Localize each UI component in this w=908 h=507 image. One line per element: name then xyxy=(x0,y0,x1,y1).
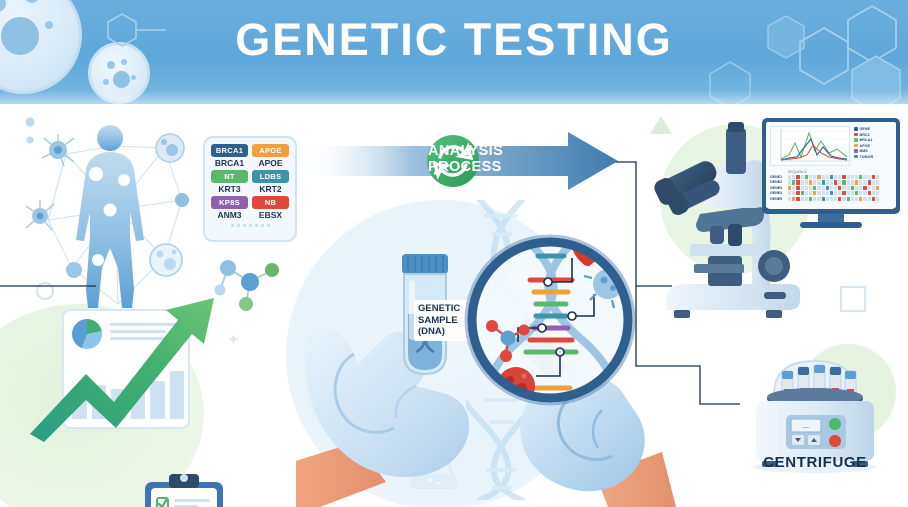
analysis-label-line1: ANALYSIS xyxy=(428,143,503,159)
gene-heatmap: SEQUENCE GENE1 GENE2 GENE3 xyxy=(770,170,892,202)
analysis-monitor[interactable]: GENE BRC2 BRCA1 APOE BMS TUMOR SEQUENCE … xyxy=(760,116,902,228)
line-plot xyxy=(770,126,850,166)
heatmap-row-label: GENE3 xyxy=(770,186,786,190)
heatmap-row: GENE3 xyxy=(770,186,892,190)
magnifying-glass-dna xyxy=(452,224,652,424)
heatmap-row-label: GENE2 xyxy=(770,180,786,184)
analysis-process-label: ANALYSIS PROCESS xyxy=(428,143,546,175)
heatmap-row-label: GENE4 xyxy=(770,191,786,195)
heatmap-row: GENE1 xyxy=(770,175,892,179)
heatmap-row: GENE2 xyxy=(770,180,892,184)
legend-item: TUMOR xyxy=(854,155,894,159)
svg-text:—: — xyxy=(803,424,810,431)
legend-item: BRC2 xyxy=(854,133,894,137)
legend-item: GENE xyxy=(854,127,894,131)
heatmap-row-label: GENE5 xyxy=(770,197,786,201)
analysis-process-arrow: ANALYSIS PROCESS xyxy=(300,130,620,192)
analysis-label-line2: PROCESS xyxy=(428,159,502,175)
heatmap-row: GENE5 xyxy=(770,197,892,201)
header-fade xyxy=(0,90,908,104)
sample-label-line3: (DNA) xyxy=(418,326,445,337)
centrifuge-label: CENTRIFUGE xyxy=(732,454,898,471)
legend-item: BRCA1 xyxy=(854,138,894,142)
legend-label: TUMOR xyxy=(860,155,874,159)
results-clipboard[interactable] xyxy=(143,472,225,507)
legend-label: BMS xyxy=(860,149,868,153)
heatmap-row-label: GENE1 xyxy=(770,175,786,179)
legend-label: BRCA1 xyxy=(860,138,873,142)
legend-label: BRC2 xyxy=(860,133,870,137)
infographic-canvas: GENETIC TESTING ✦ ✦ xyxy=(0,0,908,507)
monitor-legend: GENE BRC2 BRCA1 APOE BMS TUMOR xyxy=(854,127,894,160)
header-banner: GENETIC TESTING xyxy=(0,0,908,104)
legend-item: BMS xyxy=(854,149,894,153)
legend-item: APOE xyxy=(854,144,894,148)
monitor-screen: GENE BRC2 BRCA1 APOE BMS TUMOR SEQUENCE … xyxy=(766,122,896,208)
heatmap-row: GENE4 xyxy=(770,191,892,195)
legend-label: GENE xyxy=(860,127,871,131)
legend-label: APOE xyxy=(860,144,871,148)
heatmap-header: SEQUENCE xyxy=(788,170,892,174)
page-title: GENETIC TESTING xyxy=(0,14,908,66)
growth-arrow-icon xyxy=(28,282,228,442)
main-illustration: ✦ ✦ xyxy=(0,104,908,507)
